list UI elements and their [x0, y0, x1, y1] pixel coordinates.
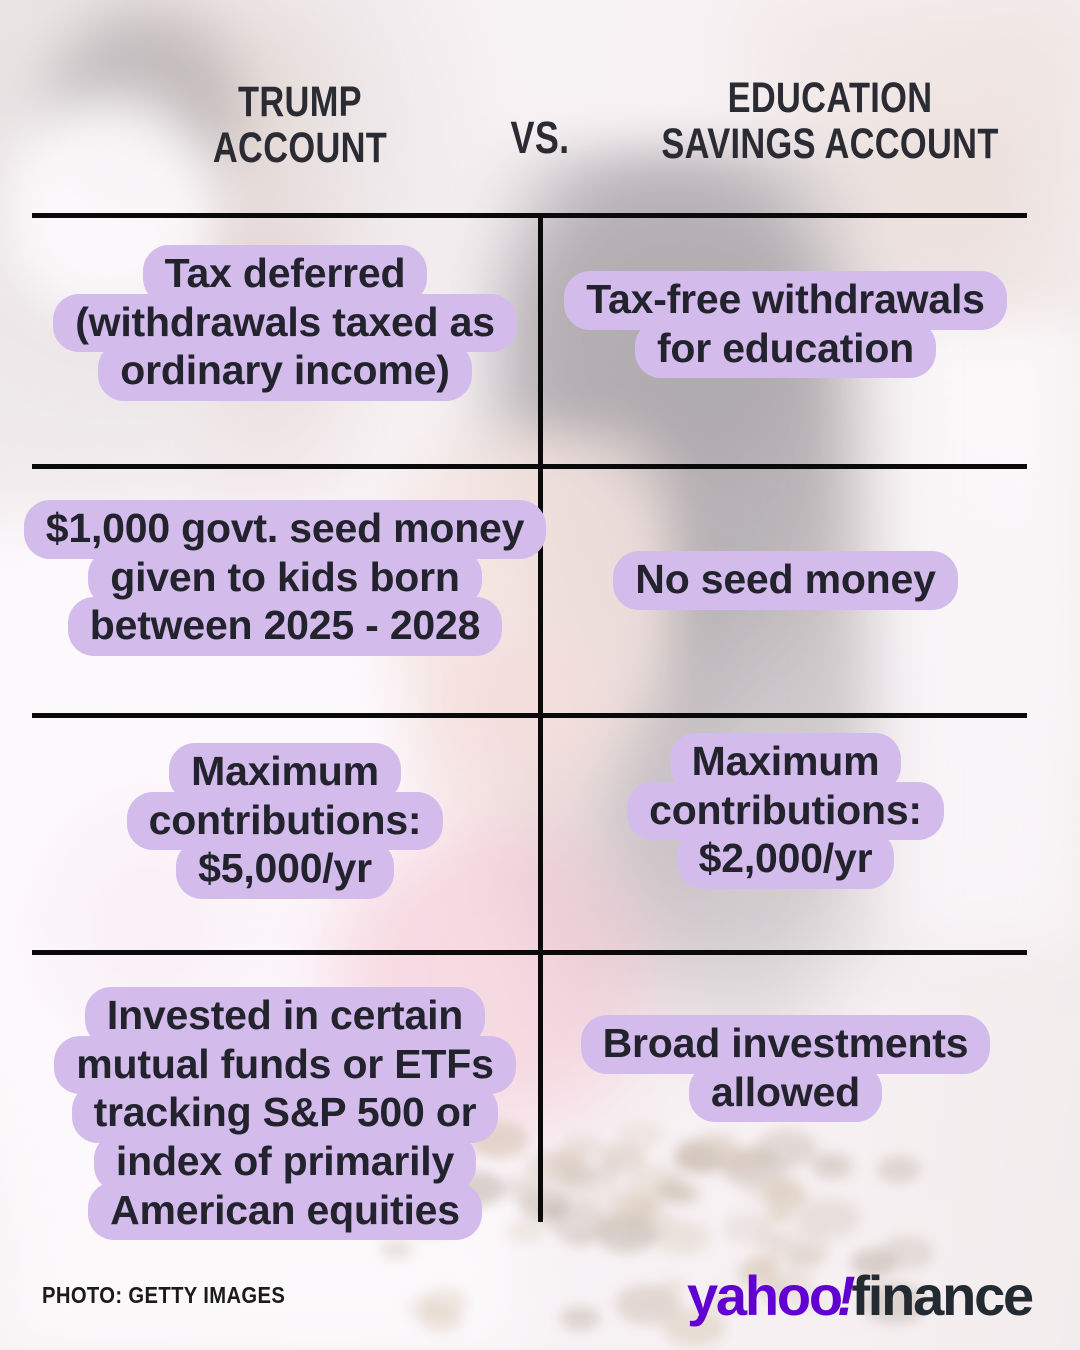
photo-credit: PHOTO: GETTY IMAGES [42, 1282, 285, 1309]
rule-top [32, 213, 1027, 218]
logo-yahoo-word: yahoo [687, 1268, 841, 1324]
highlight-line: Maximum [169, 743, 401, 802]
highlight-line: Broad investments [581, 1015, 991, 1074]
highlight-line: $1,000 govt. seed money [24, 500, 547, 559]
cell-row2-esa: No seed money [543, 556, 1028, 605]
cell-row3-trump: Maximumcontributions:$5,000/yr [32, 748, 538, 894]
highlight-line: No seed money [613, 551, 957, 610]
logo-finance-word: finance [851, 1268, 1032, 1324]
header-trump-account: TRUMP ACCOUNT [132, 80, 468, 171]
cell-row1-esa: Tax-free withdrawalsfor education [543, 276, 1028, 373]
highlight-line: Tax deferred [143, 245, 428, 304]
rule-row3 [32, 950, 1027, 955]
rule-row2 [32, 713, 1027, 718]
cell-row2-trump: $1,000 govt. seed moneygiven to kids bor… [32, 505, 538, 651]
cell-row4-esa: Broad investmentsallowed [543, 1020, 1028, 1117]
header-vs-label: VS. [460, 114, 620, 162]
highlight-line: Tax-free withdrawals [564, 271, 1007, 330]
highlight-line: Invested in certain [85, 987, 485, 1046]
highlight-line: Maximum [670, 733, 902, 792]
header-education-savings-account: EDUCATION SAVINGS ACCOUNT [622, 76, 1038, 167]
cell-row3-esa: Maximumcontributions:$2,000/yr [543, 738, 1028, 884]
yahoo-finance-logo: yahoo!finance [687, 1268, 1032, 1324]
cell-row1-trump: Tax deferred(withdrawals taxed asordinar… [32, 250, 538, 396]
cell-row4-trump: Invested in certainmutual funds or ETFst… [32, 992, 538, 1235]
rule-row1 [32, 464, 1027, 469]
column-headers: TRUMP ACCOUNT VS. EDUCATION SAVINGS ACCO… [0, 62, 1080, 192]
